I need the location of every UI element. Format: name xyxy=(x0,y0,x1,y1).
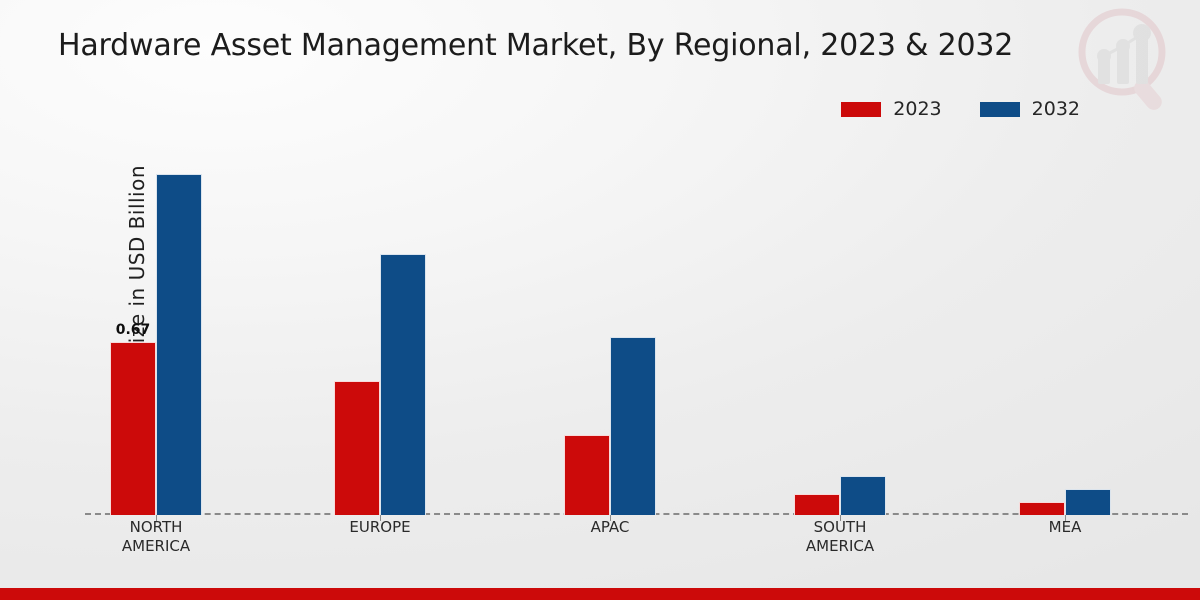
bar-pair xyxy=(1019,140,1111,515)
bar-2023-mea[interactable] xyxy=(1019,502,1065,515)
bar-pair xyxy=(564,140,656,515)
bar-group xyxy=(794,140,886,515)
bar-group xyxy=(1019,140,1111,515)
bar-pair xyxy=(794,140,886,515)
legend-label-2032: 2032 xyxy=(1032,100,1080,119)
bar-2032-north-america[interactable] xyxy=(156,174,202,515)
legend-swatch-2023 xyxy=(841,102,881,117)
bar-2023-north-america[interactable] xyxy=(110,342,156,515)
x-axis-label-north-america: NORTHAMERICA xyxy=(71,518,241,556)
bar-2032-south-america[interactable] xyxy=(840,476,886,515)
chart-legend: 2023 2032 xyxy=(841,100,1080,119)
legend-label-2023: 2023 xyxy=(893,100,941,119)
x-axis-label-europe: EUROPE xyxy=(295,518,465,537)
bar-2023-south-america[interactable] xyxy=(794,494,840,515)
legend-item-2023[interactable]: 2023 xyxy=(841,100,941,119)
bar-pair xyxy=(110,140,202,515)
x-axis-label-apac: APAC xyxy=(525,518,695,537)
legend-swatch-2032 xyxy=(980,102,1020,117)
x-axis-label-mea: MEA xyxy=(980,518,1150,537)
magnifier-bar-chart-watermark-icon xyxy=(1070,6,1178,111)
bar-2023-europe[interactable] xyxy=(334,381,380,515)
chart-title: Hardware Asset Management Market, By Reg… xyxy=(58,28,1013,63)
legend-item-2032[interactable]: 2032 xyxy=(980,100,1080,119)
plot-area: 0.67 xyxy=(40,140,1200,515)
bar-2032-europe[interactable] xyxy=(380,254,426,515)
bar-2032-apac[interactable] xyxy=(610,337,656,515)
bar-group xyxy=(334,140,426,515)
chart-container: Hardware Asset Management Market, By Reg… xyxy=(0,0,1200,600)
bar-group xyxy=(564,140,656,515)
bottom-accent-band xyxy=(0,588,1200,600)
bar-pair xyxy=(334,140,426,515)
x-axis-category-labels: NORTHAMERICAEUROPEAPACSOUTHAMERICAMEA xyxy=(40,518,1200,578)
bar-2032-mea[interactable] xyxy=(1065,489,1111,515)
bar-group: 0.67 xyxy=(110,140,202,515)
x-axis-label-south-america: SOUTHAMERICA xyxy=(755,518,925,556)
bar-2023-apac[interactable] xyxy=(564,435,610,515)
